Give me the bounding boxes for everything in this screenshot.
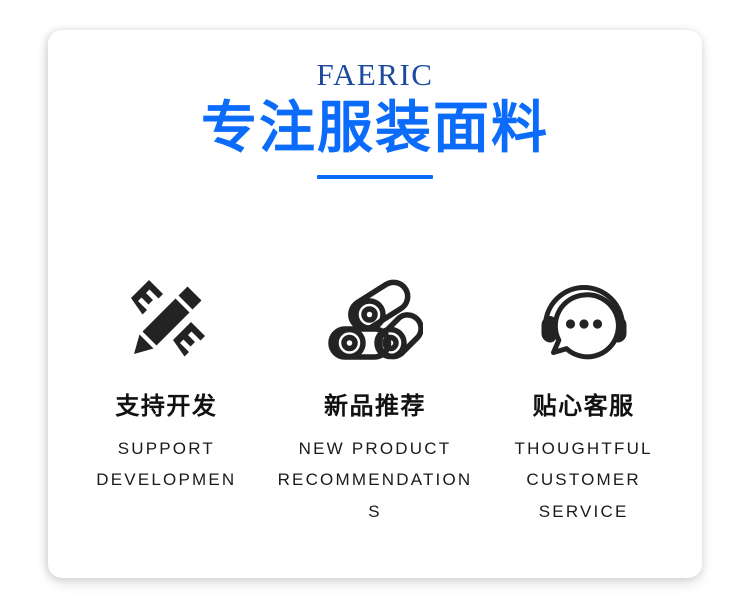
feature-item-customer-service: 贴心客服 THOUGHTFUL CUSTOMER SERVICE — [486, 268, 682, 527]
headset-chat-icon — [528, 268, 640, 372]
brand-name: FAERIC — [48, 30, 702, 92]
promo-card: FAERIC 专注服装面料 — [48, 30, 702, 578]
title-divider — [317, 175, 433, 179]
feature-title-cn: 新品推荐 — [324, 372, 426, 421]
feature-title-cn: 贴心客服 — [533, 372, 635, 421]
feature-item-new-products: 新品推荐 NEW PRODUCT RECOMMENDATIONS — [277, 268, 473, 527]
card-header: FAERIC 专注服装面料 — [48, 30, 702, 179]
feature-title-cn: 支持开发 — [115, 372, 217, 421]
feature-title-en: THOUGHTFUL CUSTOMER SERVICE — [486, 421, 682, 527]
fabric-rolls-icon — [319, 268, 431, 372]
divider-wrapper — [48, 161, 702, 179]
feature-title-en: NEW PRODUCT RECOMMENDATIONS — [277, 421, 473, 527]
feature-title-en: SUPPORT DEVELOPMEN — [68, 421, 264, 496]
page-title: 专注服装面料 — [48, 92, 702, 161]
page-root: FAERIC 专注服装面料 — [0, 0, 750, 615]
pencil-ruler-icon — [110, 268, 222, 372]
feature-item-support-development: 支持开发 SUPPORT DEVELOPMEN — [68, 268, 264, 496]
feature-list: 支持开发 SUPPORT DEVELOPMEN — [48, 268, 702, 527]
